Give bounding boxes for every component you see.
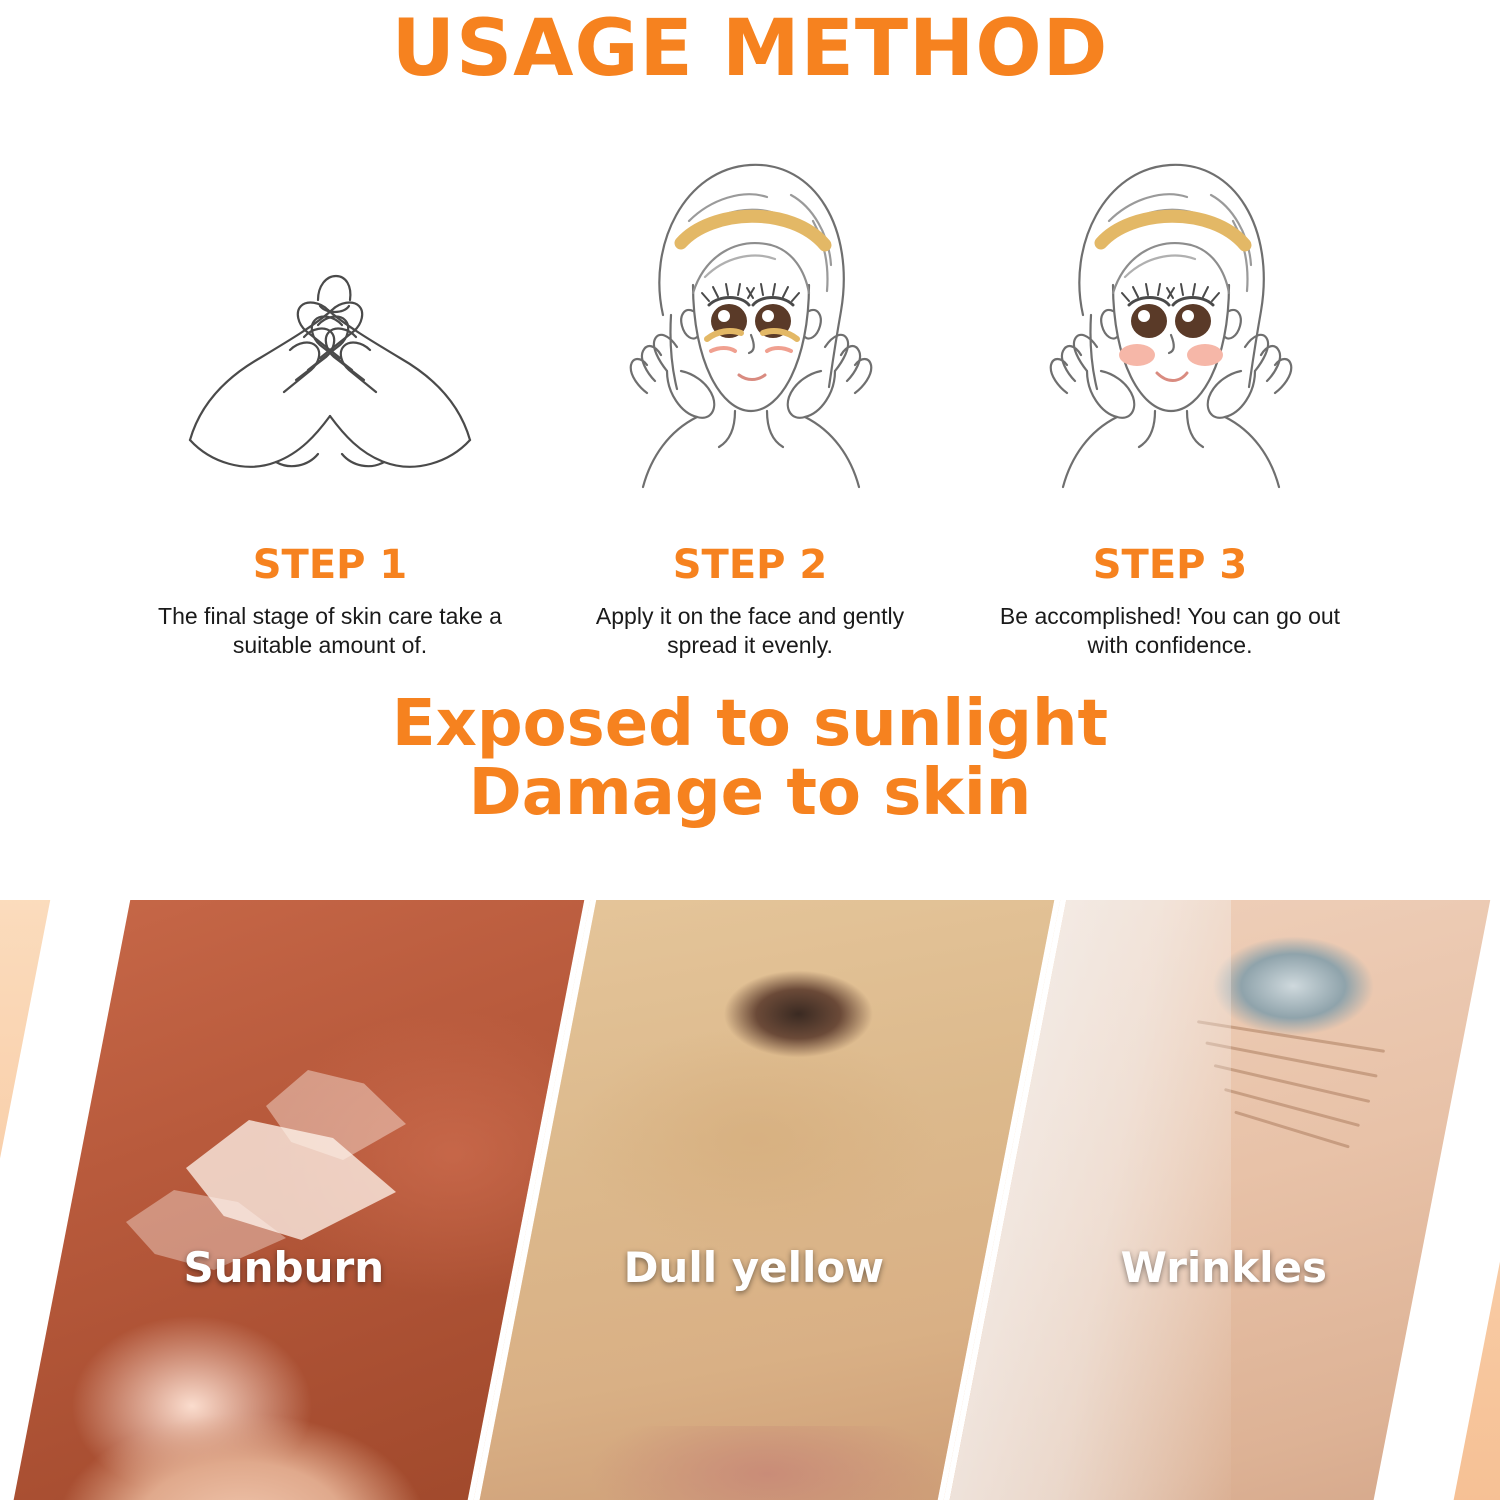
sub-headline-line2: Damage to skin <box>0 759 1500 828</box>
step-description: The final stage of skin care take a suit… <box>140 602 520 661</box>
sub-headline: Exposed to sunlight Damage to skin <box>0 690 1500 828</box>
page-title: USAGE METHOD <box>0 4 1500 94</box>
woman-applying-cream-icon <box>540 120 960 520</box>
step-label: STEP 2 <box>673 542 828 588</box>
step-label: STEP 3 <box>1093 542 1248 588</box>
step-item-2: STEP 2 Apply it on the face and gently s… <box>540 120 960 661</box>
panel-caption: Sunburn <box>55 1243 513 1292</box>
panel-caption: Wrinkles <box>995 1243 1453 1292</box>
step-label: STEP 1 <box>253 542 408 588</box>
panel-caption: Dull yellow <box>525 1243 983 1292</box>
step-item-3: STEP 3 Be accomplished! You can go out w… <box>960 120 1380 661</box>
step-description: Be accomplished! You can go out with con… <box>980 602 1360 661</box>
steps-row: STEP 1 The final stage of skin care take… <box>0 120 1500 661</box>
step-item-1: STEP 1 The final stage of skin care take… <box>120 120 540 661</box>
step-description: Apply it on the face and gently spread i… <box>560 602 940 661</box>
usage-method-infographic: USAGE METHOD <box>0 0 1500 1500</box>
damage-photo-strip: Sunburn Dull yellow Wrinkles <box>0 900 1500 1500</box>
hands-rubbing-cream-icon <box>120 120 540 520</box>
woman-smiling-finished-icon <box>960 120 1380 520</box>
sub-headline-line1: Exposed to sunlight <box>0 690 1500 759</box>
